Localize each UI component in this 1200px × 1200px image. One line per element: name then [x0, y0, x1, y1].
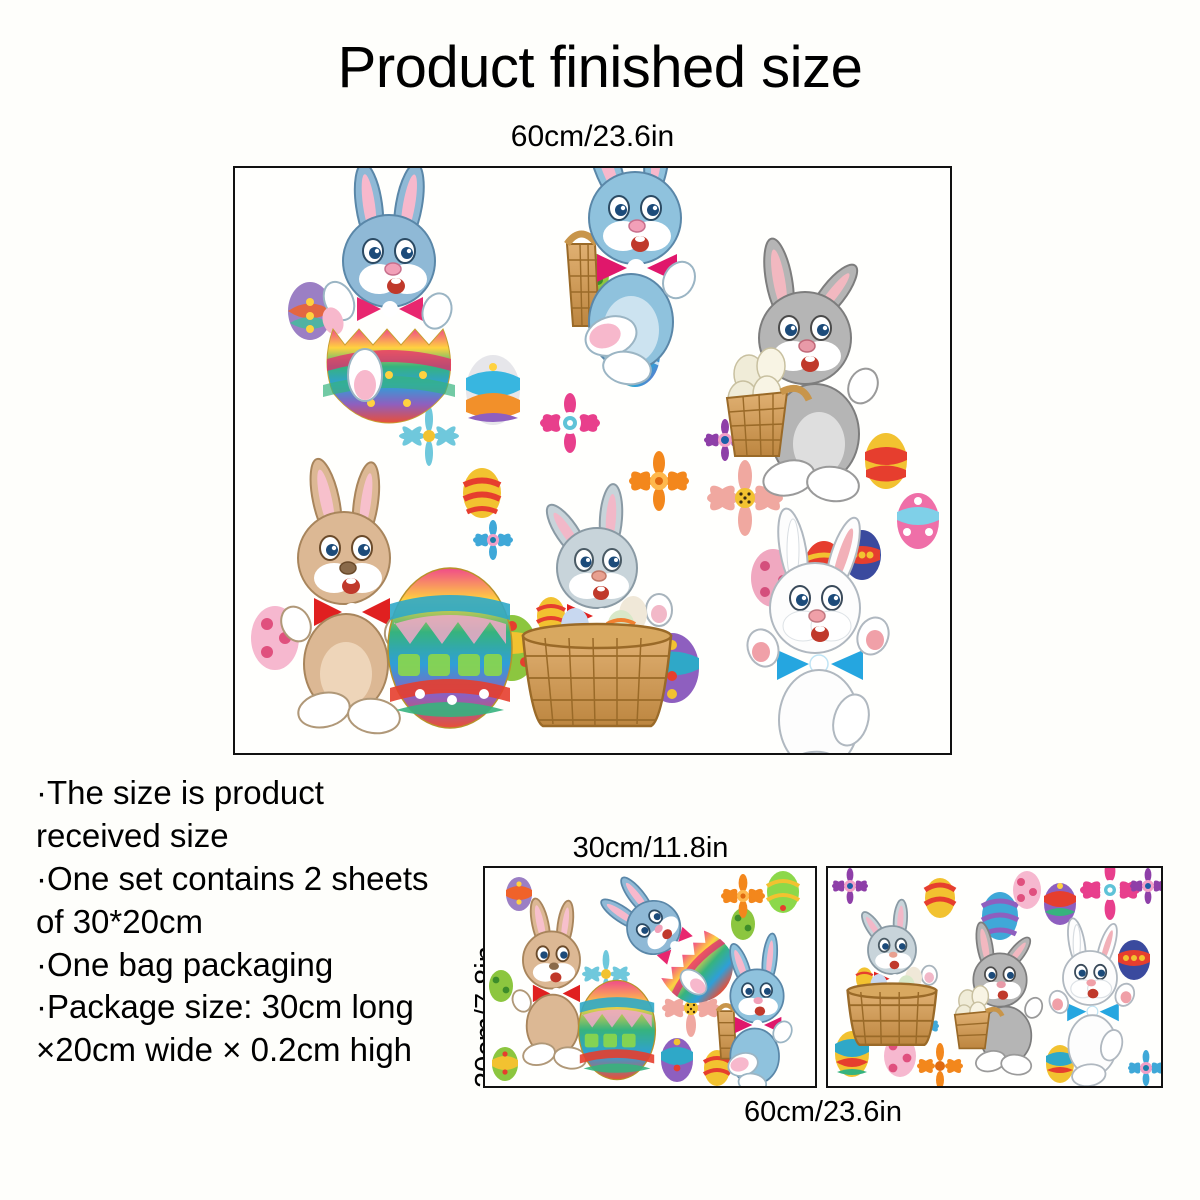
product-size-infographic: Product finished size 60cm/23.6in 50cm/1…	[0, 0, 1200, 1200]
bunny-with-basket	[567, 166, 701, 388]
product-spec-list: ·The size is product received size ·One …	[36, 772, 436, 1072]
sheet-width-label: 30cm/11.8in	[483, 832, 818, 865]
sheet-2-artwork	[828, 868, 1161, 1086]
decor-egg	[925, 878, 955, 918]
decor-flower	[1080, 866, 1140, 920]
main-preview-width-label: 60cm/23.6in	[233, 120, 952, 154]
sticker-sheet-1	[483, 866, 817, 1088]
decor-egg	[865, 433, 907, 489]
grey-bunny-basket-eggs	[727, 236, 883, 504]
decor-flower	[721, 874, 765, 918]
decor-flower	[917, 1043, 964, 1088]
large-rainbow-egg	[388, 568, 512, 728]
decor-egg	[492, 1047, 518, 1081]
decor-flower	[831, 868, 868, 904]
bunny-sitting-in-basket	[848, 899, 937, 1045]
wicker-basket	[523, 624, 671, 726]
grey-bunny-basket-eggs	[955, 921, 1046, 1076]
sheets-total-width-label: 60cm/23.6in	[483, 1096, 1163, 1129]
page-title: Product finished size	[0, 34, 1200, 101]
decor-egg	[463, 468, 501, 518]
tan-bunny-pushing-egg	[509, 897, 587, 1071]
decor-egg	[489, 970, 513, 1002]
decor-egg	[466, 355, 520, 425]
main-artwork	[235, 168, 950, 753]
sheet-1-artwork	[485, 868, 815, 1086]
decor-flower	[1127, 1050, 1163, 1086]
decor-egg	[661, 1038, 693, 1082]
decor-flower	[473, 520, 513, 560]
decor-flower	[540, 393, 601, 453]
spec-item: ·Package size: 30cm long ×20cm wide × 0.…	[36, 986, 436, 1072]
spec-item: ·One bag packaging	[36, 944, 436, 987]
main-preview-frame	[233, 166, 952, 755]
sticker-sheet-2	[826, 866, 1163, 1088]
decor-egg	[897, 493, 939, 549]
spec-item: ·The size is product received size	[36, 772, 436, 858]
bunny-in-egg	[318, 166, 456, 423]
decor-egg	[767, 871, 799, 913]
decor-egg	[506, 877, 532, 911]
bunny-sitting-in-basket	[523, 483, 672, 726]
decor-flower	[628, 451, 690, 511]
decor-egg	[1013, 871, 1041, 909]
large-rainbow-egg	[579, 980, 656, 1079]
spec-item: ·One set contains 2 sheets of 30*20cm	[36, 858, 436, 944]
decor-egg	[1118, 940, 1150, 980]
